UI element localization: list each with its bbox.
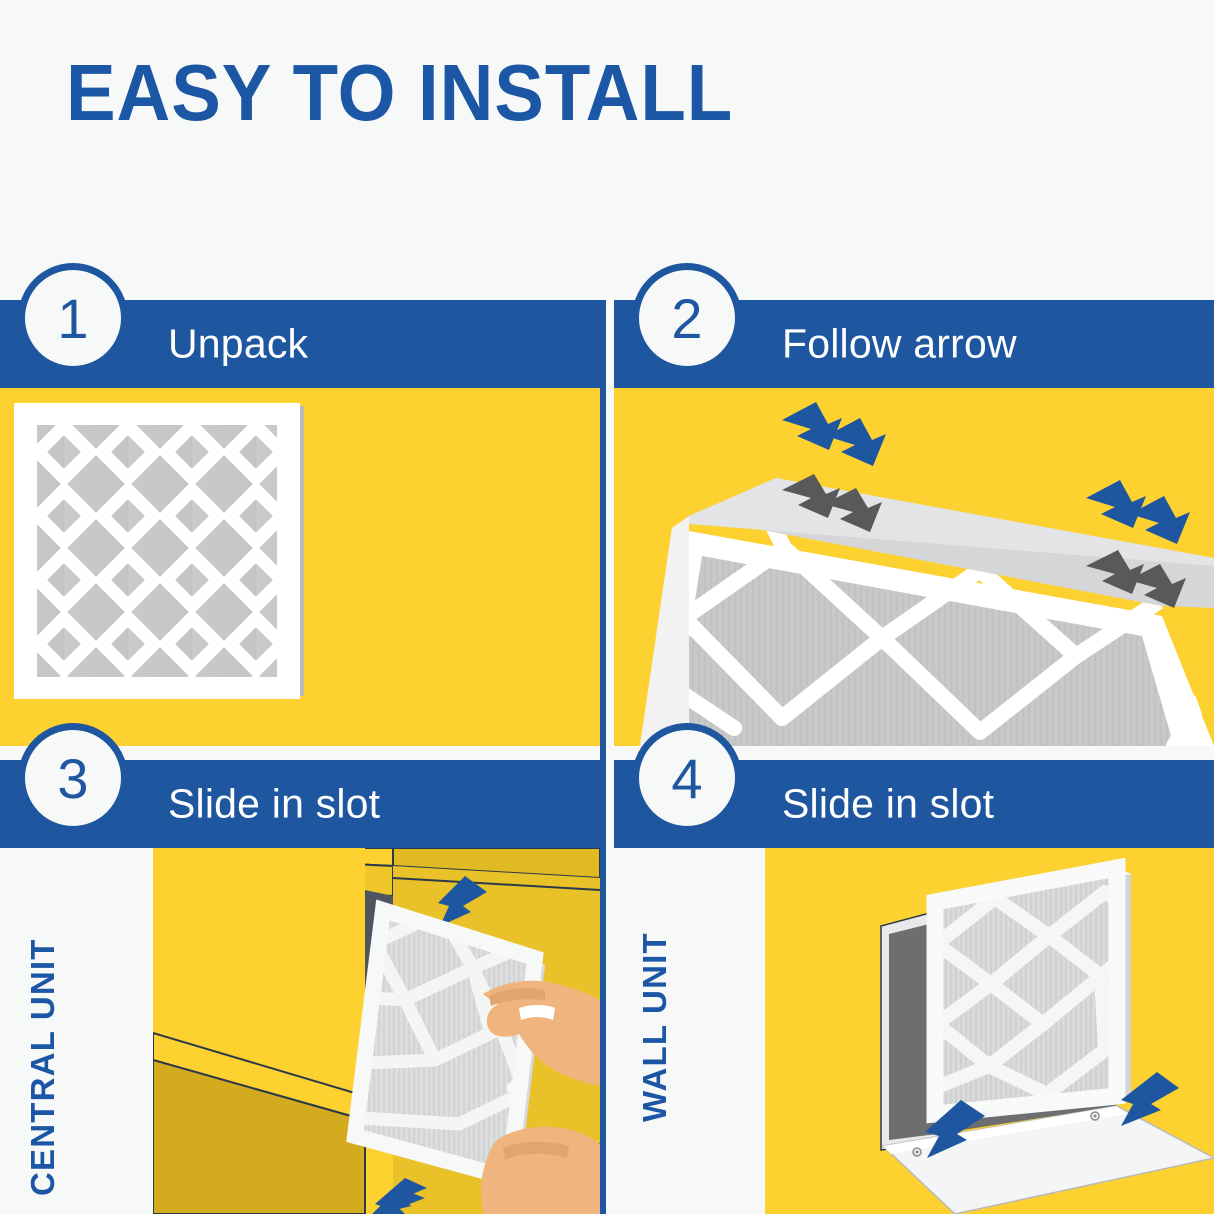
angled-filter-airflow-illustration — [614, 388, 1214, 746]
step-panel-2: Follow arrow 2 — [614, 300, 1214, 746]
blue-chevron-arrow-left — [782, 402, 886, 466]
step-1-badge: 1 — [18, 263, 128, 373]
step-1-label: Unpack — [168, 321, 308, 368]
step-4-illustration — [765, 848, 1214, 1214]
step-3-side-label: CENTRAL UNIT — [24, 938, 62, 1196]
step-3-badge: 3 — [18, 723, 128, 833]
central-unit-insert-illustration — [153, 848, 600, 1214]
blue-chevron-arrow-right — [1086, 480, 1190, 544]
panel-divider-vertical — [600, 300, 606, 1214]
step-2-label: Follow arrow — [782, 321, 1017, 368]
step-4-badge: 4 — [632, 723, 742, 833]
step-panel-4: Slide in slot 4 WALL UNIT — [614, 760, 1214, 1214]
page-title: EASY TO INSTALL — [66, 53, 733, 133]
step-2-badge: 2 — [632, 263, 742, 373]
step-3-illustration — [153, 848, 600, 1214]
step-1-illustration — [0, 388, 600, 746]
step-2-illustration — [614, 388, 1214, 746]
step-4-side-label: WALL UNIT — [636, 932, 674, 1122]
hand-lower — [481, 1127, 600, 1214]
wall-unit-insert-illustration — [765, 848, 1214, 1214]
step-4-label: Slide in slot — [782, 781, 994, 828]
infographic-root: EASY TO INSTALL Unpack 1 — [0, 0, 1214, 1214]
flat-filter-illustration — [0, 388, 600, 746]
step-panel-3: Slide in slot 3 CENTRAL UNIT — [0, 760, 600, 1214]
step-panel-1: Unpack 1 — [0, 300, 600, 746]
step-3-label: Slide in slot — [168, 781, 380, 828]
